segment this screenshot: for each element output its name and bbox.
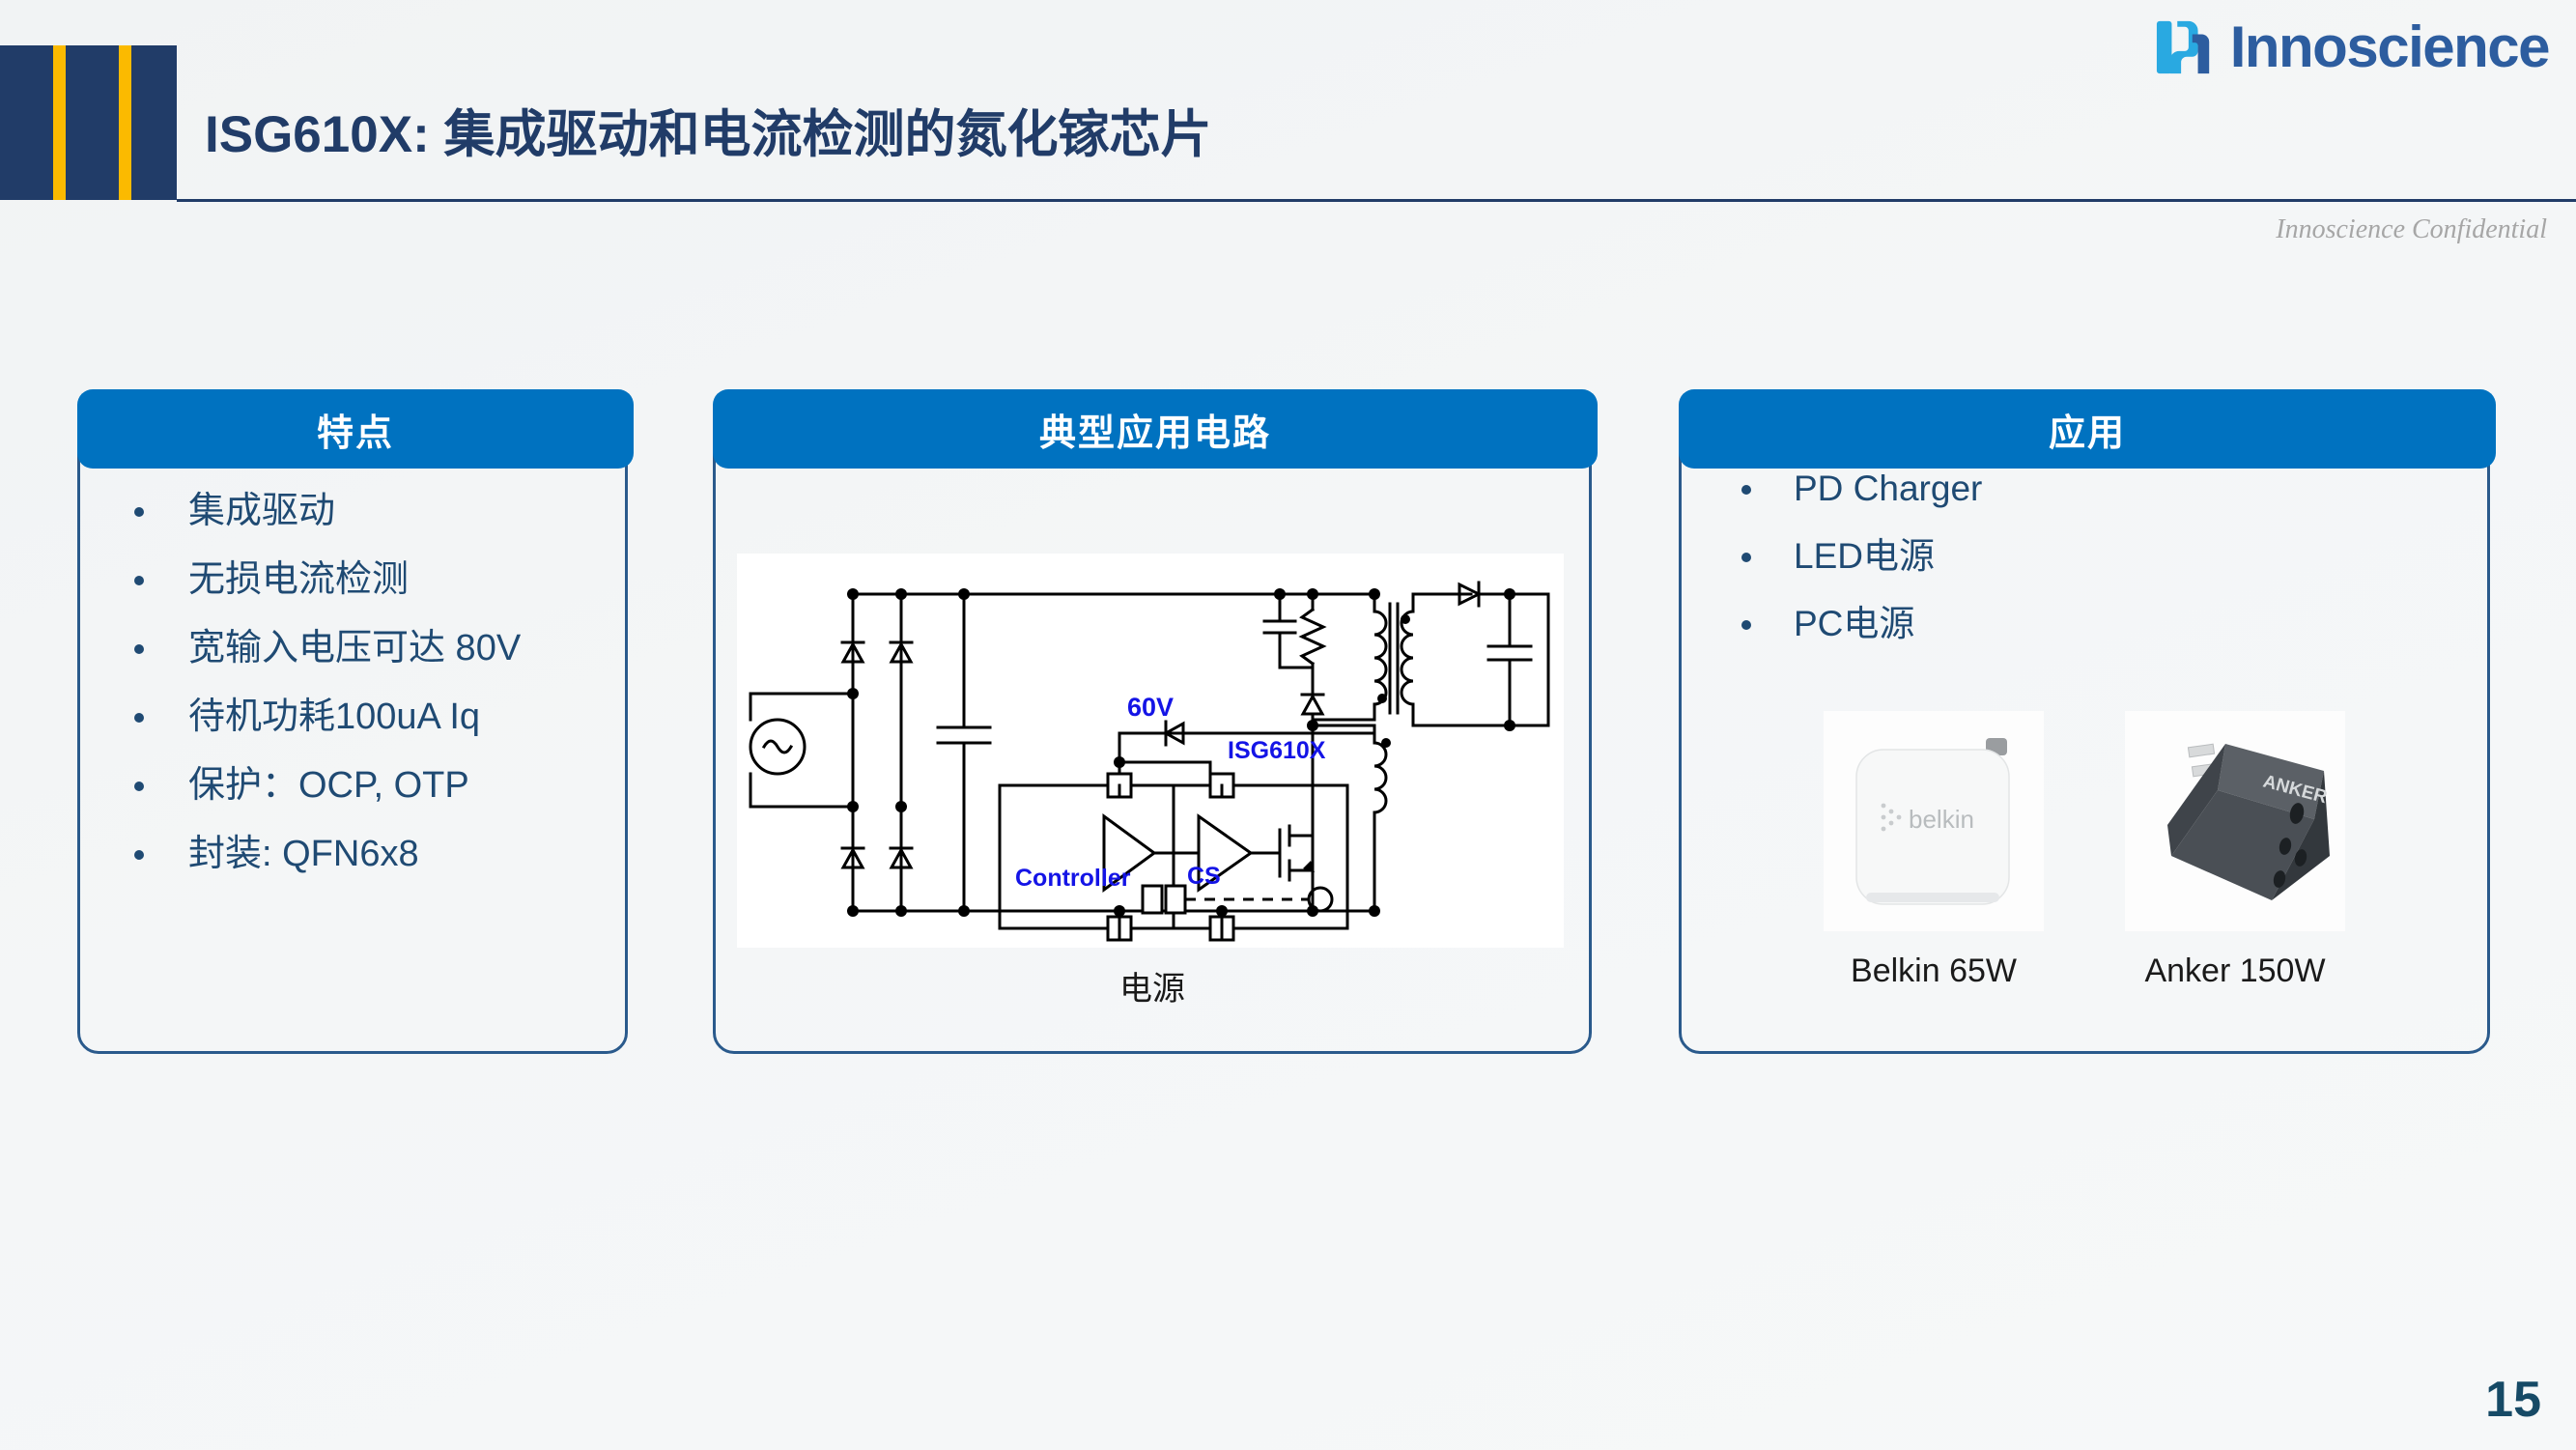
circuit-label-cs: CS [1187, 863, 1221, 890]
list-item: 无损电流检测 [134, 557, 625, 602]
innoscience-logo-text: Innoscience [2230, 18, 2549, 76]
product-anker: ANKER Anker 150W [2125, 711, 2345, 990]
list-item: PD Charger [1741, 468, 2487, 510]
circuit-card-header: 典型应用电路 [713, 389, 1598, 469]
bullet-dot-icon [134, 576, 144, 585]
applications-bullet-list: PD Charger LED电源 PC电源 [1682, 392, 2487, 670]
list-item-label: LED电源 [1794, 535, 1935, 578]
list-item-label: 集成驱动 [188, 489, 335, 533]
innoscience-logo-icon [2155, 17, 2215, 77]
list-item-label: 无损电流检测 [188, 557, 409, 602]
list-item: 待机功耗100uA Iq [134, 695, 625, 739]
title-accent-block [0, 45, 177, 200]
list-item-label: 宽输入电压可达 80V [188, 626, 521, 670]
circuit-caption: 电源 [716, 962, 1589, 1009]
confidentiality-notice: Innoscience Confidential [2276, 214, 2547, 245]
bullet-dot-icon [1741, 620, 1751, 630]
bullet-dot-icon [1741, 485, 1751, 495]
bullet-dot-icon [134, 644, 144, 654]
bullet-dot-icon [134, 782, 144, 791]
list-item: 保护：OCP, OTP [134, 763, 625, 808]
belkin-charger-photo: belkin [1824, 711, 2044, 931]
anker-charger-photo: ANKER [2125, 711, 2345, 931]
list-item-label: 待机功耗100uA Iq [188, 695, 480, 739]
list-item: PC电源 [1741, 603, 2487, 645]
list-item: 集成驱动 [134, 489, 625, 533]
page-title: ISG610X: 集成驱动和电流检测的氮化镓芯片 [205, 94, 1211, 167]
list-item: 封装: QFN6x8 [134, 832, 625, 876]
slide: ISG610X: 集成驱动和电流检测的氮化镓芯片 Innoscience Inn… [0, 0, 2576, 1450]
list-item-label: 封装: QFN6x8 [188, 832, 419, 876]
product-caption: Anker 150W [2125, 952, 2345, 990]
belkin-brand-text: belkin [1909, 805, 1974, 834]
list-item-label: 保护：OCP, OTP [188, 763, 469, 808]
circuit-label-60v: 60V [1127, 693, 1174, 722]
features-card: 特点 集成驱动 无损电流检测 宽输入电压可达 80V 待机功耗100uA Iq … [77, 389, 628, 1054]
bullet-dot-icon [134, 713, 144, 723]
bullet-dot-icon [134, 507, 144, 517]
list-item-label: PC电源 [1794, 603, 1914, 645]
bullet-dot-icon [1741, 553, 1751, 562]
circuit-label-controller: Controller [1015, 865, 1131, 892]
list-item: LED电源 [1741, 535, 2487, 578]
product-caption: Belkin 65W [1824, 952, 2044, 990]
bullet-dot-icon [134, 850, 144, 860]
accent-stripe-1 [53, 45, 66, 200]
list-item-label: PD Charger [1794, 468, 1982, 510]
page-number: 15 [2485, 1371, 2541, 1429]
application-circuit-diagram: 60V ISG610X Controller CS [737, 554, 1564, 948]
list-item: 宽输入电压可达 80V [134, 626, 625, 670]
applications-card: 应用 PD Charger LED电源 PC电源 [1679, 389, 2490, 1054]
accent-stripe-2 [119, 45, 131, 200]
product-belkin: belkin Belkin 65W [1824, 711, 2044, 990]
circuit-card: 典型应用电路 [713, 389, 1592, 1054]
product-gallery: belkin Belkin 65W [1682, 711, 2487, 990]
circuit-label-isg610x: ISG610X [1228, 737, 1326, 764]
innoscience-logo: Innoscience [2155, 17, 2549, 77]
header-divider [177, 199, 2576, 202]
features-bullet-list: 集成驱动 无损电流检测 宽输入电压可达 80V 待机功耗100uA Iq 保护：… [80, 392, 625, 900]
